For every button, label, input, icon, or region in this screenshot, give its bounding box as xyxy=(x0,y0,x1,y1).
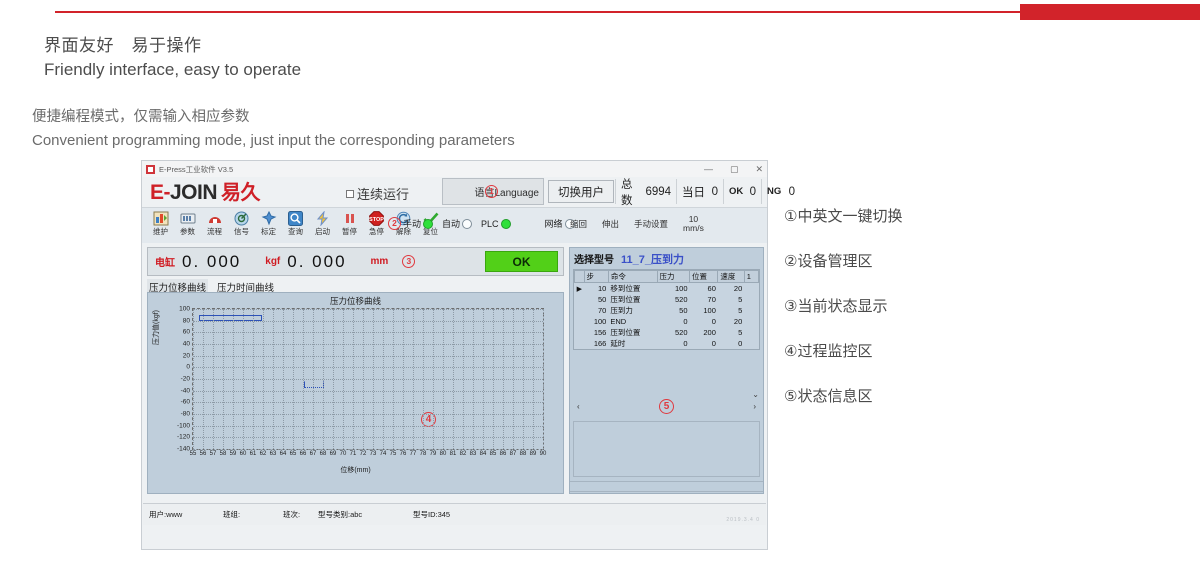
row-command-2: 压到力 xyxy=(608,305,657,316)
mode-auto-led-icon xyxy=(462,219,472,229)
row-extra-4 xyxy=(744,327,758,338)
brand-logo: E-JOIN易久 xyxy=(150,182,260,203)
callout-4-label: 过程监控区 xyxy=(797,343,872,360)
row-command-1: 压到位置 xyxy=(608,294,657,305)
row-position-5: 0 xyxy=(690,338,718,349)
watermark: 2019.3.4 0 xyxy=(726,517,760,523)
page-title-en: Friendly interface, easy to operate xyxy=(44,58,301,82)
mode-auto-label: 自动 xyxy=(442,217,460,230)
model-selector-label: 选择型号 xyxy=(574,251,614,266)
callout-2-number: ② xyxy=(784,253,797,270)
row-speed-1: 5 xyxy=(718,294,744,305)
counter-today-value: 0 xyxy=(712,186,718,198)
chart-xtick-label: 89 xyxy=(530,451,537,457)
cylinder-label: 电缸 xyxy=(155,254,175,269)
row-step-2: 70 xyxy=(584,305,608,316)
chart-xtick-label: 64 xyxy=(280,451,287,457)
row-speed-4: 5 xyxy=(718,327,744,338)
row-step-4: 156 xyxy=(584,327,608,338)
row-command-5: 延时 xyxy=(608,338,657,349)
chart-xtick-label: 69 xyxy=(330,451,337,457)
page-subtitle-cn: 便捷编程模式，仅需输入相应参数 xyxy=(32,105,515,129)
chart-xtick-label: 56 xyxy=(200,451,207,457)
chart-xtick-label: 88 xyxy=(520,451,527,457)
chart-xtick-label: 80 xyxy=(440,451,447,457)
chart-ytick-label: 60 xyxy=(183,329,190,336)
callout-2: ②设备管理区 xyxy=(784,253,1044,271)
mode-auto[interactable]: 自动 xyxy=(442,217,472,230)
row-pressure-0: 100 xyxy=(657,283,689,295)
toolbar-label-estop: 急停 xyxy=(363,227,390,237)
scroll-down-icon[interactable]: ⌄ xyxy=(752,390,759,399)
chart-ytick-label: 20 xyxy=(183,352,190,359)
status-badge[interactable]: OK xyxy=(485,251,558,272)
mode-plc[interactable]: PLC xyxy=(481,219,511,229)
switch-user-button[interactable]: 切换用户 xyxy=(548,180,614,203)
chart-y-axis-label: 压力值(kgf) xyxy=(151,310,161,345)
table-header-row: 步 命令 压力 位置 速度 1 xyxy=(575,271,759,283)
counter-ok-label: OK xyxy=(729,186,743,197)
chart-xtick-label: 82 xyxy=(460,451,467,457)
callout-1-number: ① xyxy=(784,208,797,225)
chart-ytick-label: -140 xyxy=(177,446,190,453)
status-model-type-value: abc xyxy=(350,510,362,519)
chart-gridline-h xyxy=(193,332,543,333)
col-marker xyxy=(575,271,585,283)
scroll-right-icon[interactable]: › xyxy=(753,402,756,411)
status-team: 班组: xyxy=(223,509,283,520)
toolbar-button-parameter[interactable]: 参数 xyxy=(174,208,201,237)
chart-xtick-label: 77 xyxy=(410,451,417,457)
row-step-3: 100 xyxy=(584,316,608,327)
main-toolbar: 维护 参数 流程 信号 xyxy=(142,207,767,243)
mode-plc-led-icon xyxy=(501,219,511,229)
row-marker-2 xyxy=(575,305,585,316)
chart-title: 压力位移曲线 xyxy=(148,293,563,307)
row-marker-0: ▶ xyxy=(575,283,585,295)
toolbar-button-estop[interactable]: STOP 急停 xyxy=(363,208,390,237)
window-controls: — ▢ ✕ xyxy=(704,161,763,177)
chart-ytick-label: -120 xyxy=(177,434,190,441)
chart-xtick-label: 65 xyxy=(290,451,297,457)
row-extra-2 xyxy=(744,305,758,316)
query-icon xyxy=(282,210,309,227)
svg-text:STOP: STOP xyxy=(369,217,384,223)
parameter-icon xyxy=(174,210,201,227)
chart-xtick-label: 71 xyxy=(350,451,357,457)
toolbar-label-query: 查询 xyxy=(282,227,309,237)
counter-total: 总数 6994 xyxy=(615,179,677,204)
callout-3-label: 当前状态显示 xyxy=(797,298,887,315)
maintenance-icon xyxy=(147,210,174,227)
callout-4: ④过程监控区 xyxy=(784,343,1044,361)
panel-divider-2 xyxy=(570,491,763,492)
scroll-left-icon[interactable]: ‹ xyxy=(577,402,580,411)
extend-button[interactable]: 伸出 xyxy=(602,218,619,230)
program-table: 步 命令 压力 位置 速度 1 ▶ 10 移到位置 xyxy=(574,270,759,349)
col-command: 命令 xyxy=(608,271,657,283)
position-unit: mm xyxy=(371,256,389,267)
table-row[interactable]: 70 压到力 50 100 5 xyxy=(575,305,759,316)
row-pressure-1: 520 xyxy=(657,294,689,305)
status-info-box xyxy=(573,421,760,477)
table-row[interactable]: 50 压到位置 520 70 5 xyxy=(575,294,759,305)
col-pressure: 压力 xyxy=(657,271,689,283)
col-extra: 1 xyxy=(744,271,758,283)
chart-ytick-label: -100 xyxy=(177,422,190,429)
pause-icon xyxy=(336,210,363,227)
continuous-run-checkbox[interactable]: 连续运行 xyxy=(346,184,409,203)
toolbar-label-parameter: 参数 xyxy=(174,227,201,237)
callout-1: ①中英文一键切换 xyxy=(784,208,1044,226)
counter-total-value: 6994 xyxy=(646,186,672,198)
checkbox-icon[interactable] xyxy=(346,190,354,198)
chart-ytick-label: -40 xyxy=(181,387,190,394)
chart-xtick-label: 84 xyxy=(480,451,487,457)
status-readout-bar: 电缸 0. 000 kgf 0. 000 mm 3 OK xyxy=(147,247,564,276)
bottom-status-bar: 用户:www 班组: 班次: 型号类别:abc 型号ID:345 2019.3.… xyxy=(143,503,766,525)
row-extra-5 xyxy=(744,338,758,349)
chart-xtick-label: 73 xyxy=(370,451,377,457)
row-marker-4 xyxy=(575,327,585,338)
callout-3-number: ③ xyxy=(784,298,797,315)
model-name: 11_7_压到力 xyxy=(621,251,684,267)
row-step-1: 50 xyxy=(584,294,608,305)
status-user-key: 用户: xyxy=(149,510,166,519)
speed-display: 10 mm/s xyxy=(683,215,704,233)
status-model-type: 型号类别:abc xyxy=(318,509,413,520)
chart-xtick-label: 87 xyxy=(510,451,517,457)
estop-icon: STOP xyxy=(363,210,390,227)
callout-1-label: 中英文一键切换 xyxy=(797,208,902,225)
col-speed: 速度 xyxy=(718,271,744,283)
status-user: 用户:www xyxy=(149,509,223,520)
counter-ng-value: 0 xyxy=(789,186,795,198)
mode-plc-label: PLC xyxy=(481,219,499,229)
chart-ytick-label: 80 xyxy=(183,317,190,324)
chart-gridline-h xyxy=(193,379,543,380)
chart-ytick-label: 40 xyxy=(183,341,190,348)
row-extra-3 xyxy=(744,316,758,327)
horizontal-scrollbar[interactable]: ‹ 5 › xyxy=(573,400,760,413)
brand-cn: 易久 xyxy=(221,182,260,204)
row-pressure-2: 50 xyxy=(657,305,689,316)
counter-today-label: 当日 xyxy=(682,184,705,200)
status-model-type-key: 型号类别: xyxy=(318,510,350,519)
toolbar-tail-group: 缩回 伸出 手动设置 10 mm/s xyxy=(570,215,704,233)
chart-series-window xyxy=(304,381,324,389)
chart-xtick-label: 55 xyxy=(190,451,197,457)
chart-xtick-label: 86 xyxy=(500,451,507,457)
process-monitor-chart: 压力位移曲线 压力值(kgf) 4 5556575859606162636465… xyxy=(147,292,564,494)
status-shift-key: 班次: xyxy=(283,510,300,519)
chart-gridline-h xyxy=(193,321,543,322)
chart-gridline-h xyxy=(193,437,543,438)
chart-xtick-label: 76 xyxy=(400,451,407,457)
chart-xtick-label: 90 xyxy=(540,451,547,457)
row-step-0: 10 xyxy=(584,283,608,295)
status-badge-label: OK xyxy=(513,255,531,269)
row-position-3: 0 xyxy=(690,316,718,327)
row-command-3: END xyxy=(608,316,657,327)
toolbar-button-maintenance[interactable]: 维护 xyxy=(147,208,174,237)
callout-5-label: 状态信息区 xyxy=(797,388,872,405)
mode-manual-label: 手动 xyxy=(403,217,421,230)
chart-xtick-label: 78 xyxy=(420,451,427,457)
close-icon[interactable]: ✕ xyxy=(755,165,763,174)
chart-ytick-label: 100 xyxy=(179,306,190,313)
page-subtitle-en: Convenient programming mode, just input … xyxy=(32,129,515,153)
chart-xtick-label: 61 xyxy=(250,451,257,457)
toolbar-label-pause: 暂停 xyxy=(336,227,363,237)
process-icon xyxy=(201,210,228,227)
status-model-id-key: 型号ID: xyxy=(413,510,438,519)
counter-group: 总数 6994 当日 0 OK 0 NG 0 xyxy=(615,179,800,204)
chart-xtick-label: 79 xyxy=(430,451,437,457)
minimize-icon[interactable]: — xyxy=(704,165,713,174)
panel-divider-1 xyxy=(570,481,763,482)
row-marker-3 xyxy=(575,316,585,327)
chart-xtick-label: 66 xyxy=(300,451,307,457)
toolbar-button-pause[interactable]: 暂停 xyxy=(336,208,363,237)
counter-ok: OK 0 xyxy=(724,179,762,204)
chart-x-axis-label: 位移(mm) xyxy=(340,465,370,475)
chart-xtick-label: 70 xyxy=(340,451,347,457)
chart-xtick-label: 83 xyxy=(470,451,477,457)
chart-gridline-h xyxy=(193,414,543,415)
callout-5: ⑤状态信息区 xyxy=(784,388,1044,406)
row-position-1: 70 xyxy=(690,294,718,305)
chart-xtick-label: 67 xyxy=(310,451,317,457)
counter-ng-label: NG xyxy=(767,186,781,197)
counter-total-label: 总数 xyxy=(621,176,633,208)
row-speed-0: 20 xyxy=(718,283,744,295)
table-row[interactable]: 156 压到位置 520 200 5 xyxy=(575,327,759,338)
manual-setting-button[interactable]: 手动设置 xyxy=(634,218,668,230)
chart-xtick-label: 59 xyxy=(230,451,237,457)
start-icon xyxy=(309,210,336,227)
chart-xtick-label: 81 xyxy=(450,451,457,457)
table-row[interactable]: 166 延时 0 0 0 xyxy=(575,338,759,349)
callout-4-number: ④ xyxy=(784,343,797,360)
force-value: 0. 000 xyxy=(182,252,241,272)
calibration-icon xyxy=(255,210,282,227)
chart-gridline-h xyxy=(193,449,543,450)
status-user-value: www xyxy=(166,510,182,519)
marker-1: 1 xyxy=(485,185,498,198)
chart-xtick-label: 74 xyxy=(380,451,387,457)
chart-xtick-label: 72 xyxy=(360,451,367,457)
program-panel: 选择型号 11_7_压到力 步 命令 压力 位置 速度 1 xyxy=(569,247,764,494)
language-button[interactable]: 1 语言Language xyxy=(442,178,544,205)
brand-row: E-JOIN易久 连续运行 1 语言Language 切换用户 总数 6994 … xyxy=(142,177,767,207)
signal-icon xyxy=(228,210,255,227)
toolbar-button-signal[interactable]: 信号 xyxy=(228,208,255,237)
position-value: 0. 000 xyxy=(287,252,346,272)
chart-gridline-h xyxy=(193,402,543,403)
brand-join: JOIN xyxy=(170,181,217,204)
row-extra-1 xyxy=(744,294,758,305)
app-logo-icon xyxy=(146,165,155,174)
table-row[interactable]: ▶ 10 移到位置 100 60 20 xyxy=(575,283,759,295)
chart-plot-area: 4 55565758596061626364656667686970717273… xyxy=(192,308,544,450)
status-team-key: 班组: xyxy=(223,510,240,519)
callout-3: ③当前状态显示 xyxy=(784,298,1044,316)
maximize-icon[interactable]: ▢ xyxy=(730,165,739,174)
chart-xtick-label: 68 xyxy=(320,451,327,457)
row-speed-5: 0 xyxy=(718,338,744,349)
col-step: 步 xyxy=(584,271,608,283)
row-position-4: 200 xyxy=(690,327,718,338)
switch-user-label: 切换用户 xyxy=(558,184,604,200)
toolbar-button-process[interactable]: 流程 xyxy=(201,208,228,237)
toolbar-label-maintenance: 维护 xyxy=(147,227,174,237)
chart-xtick-label: 75 xyxy=(390,451,397,457)
application-window: E-Press工业软件 V3.5 — ▢ ✕ E-JOIN易久 连续运行 1 语… xyxy=(141,160,768,550)
row-command-0: 移到位置 xyxy=(608,283,657,295)
chart-xtick-label: 58 xyxy=(220,451,227,457)
status-model-id-value: 345 xyxy=(438,510,451,519)
mode-indicator-group: 2 手动 自动 PLC 网络 xyxy=(388,217,584,230)
chart-gridline-h xyxy=(193,344,543,345)
counter-ok-value: 0 xyxy=(750,186,756,198)
chart-xtick-label: 85 xyxy=(490,451,497,457)
col-position: 位置 xyxy=(690,271,718,283)
model-selector[interactable]: 选择型号 11_7_压到力 xyxy=(570,248,763,269)
chart-xtick-label: 57 xyxy=(210,451,217,457)
counter-today: 当日 0 xyxy=(677,179,724,204)
row-marker-1 xyxy=(575,294,585,305)
marker-5: 5 xyxy=(659,399,674,414)
toolbar-button-calibration[interactable]: 标定 xyxy=(255,208,282,237)
row-pressure-4: 520 xyxy=(657,327,689,338)
speed-unit: mm/s xyxy=(683,223,704,233)
continuous-run-label: 连续运行 xyxy=(357,187,409,202)
marker-3: 3 xyxy=(402,255,415,268)
page-title: 界面友好 易于操作 Friendly interface, easy to op… xyxy=(44,34,301,82)
callout-5-number: ⑤ xyxy=(784,388,797,405)
chart-gridline-h xyxy=(193,309,543,310)
chart-ytick-label: -60 xyxy=(181,399,190,406)
toolbar-button-query[interactable]: 查询 xyxy=(282,208,309,237)
window-title: E-Press工业软件 V3.5 xyxy=(159,164,233,175)
brand-e: E- xyxy=(150,181,170,204)
callout-2-label: 设备管理区 xyxy=(797,253,872,270)
mode-manual-led-icon xyxy=(423,219,433,229)
chart-xtick-label: 63 xyxy=(270,451,277,457)
chart-ytick-label: 0 xyxy=(186,364,190,371)
row-pressure-3: 0 xyxy=(657,316,689,327)
status-shift: 班次: xyxy=(283,509,318,520)
toolbar-label-calibration: 标定 xyxy=(255,227,282,237)
status-model-id: 型号ID:345 xyxy=(413,509,450,520)
force-unit: kgf xyxy=(265,256,280,267)
page-subtitle: 便捷编程模式，仅需输入相应参数 Convenient programming m… xyxy=(32,105,515,153)
chart-gridline-h xyxy=(193,367,543,368)
row-marker-5 xyxy=(575,338,585,349)
program-step-table[interactable]: 步 命令 压力 位置 速度 1 ▶ 10 移到位置 xyxy=(573,269,760,350)
chart-ytick-label: -20 xyxy=(181,376,190,383)
row-speed-3: 20 xyxy=(718,316,744,327)
row-extra-0 xyxy=(744,283,758,295)
row-step-5: 166 xyxy=(584,338,608,349)
chart-ytick-label: -80 xyxy=(181,411,190,418)
row-speed-2: 5 xyxy=(718,305,744,316)
chart-xtick-label: 62 xyxy=(260,451,267,457)
retract-button[interactable]: 缩回 xyxy=(570,218,587,230)
window-titlebar: E-Press工业软件 V3.5 — ▢ ✕ xyxy=(142,161,767,177)
slide-page: 界面友好 易于操作 Friendly interface, easy to op… xyxy=(0,0,1200,580)
chart-gridline-h xyxy=(193,426,543,427)
mode-network-label: 网络 xyxy=(545,217,563,230)
toolbar-button-start[interactable]: 启动 xyxy=(309,208,336,237)
toolbar-label-process: 流程 xyxy=(201,227,228,237)
chart-gridline-h xyxy=(193,356,543,357)
toolbar-label-start: 启动 xyxy=(309,227,336,237)
page-title-cn: 界面友好 易于操作 xyxy=(44,34,301,58)
toolbar-label-signal: 信号 xyxy=(228,227,255,237)
chart-xtick-label: 60 xyxy=(240,451,247,457)
marker-2: 2 xyxy=(388,217,401,230)
table-row[interactable]: 100 END 0 0 20 xyxy=(575,316,759,327)
row-command-4: 压到位置 xyxy=(608,327,657,338)
row-position-2: 100 xyxy=(690,305,718,316)
top-accent-block xyxy=(1020,4,1200,20)
counter-ng: NG 0 xyxy=(762,179,800,204)
callout-list: ①中英文一键切换 ②设备管理区 ③当前状态显示 ④过程监控区 ⑤状态信息区 xyxy=(784,208,1044,433)
row-pressure-5: 0 xyxy=(657,338,689,349)
chart-gridline-v xyxy=(543,309,544,449)
row-position-0: 60 xyxy=(690,283,718,295)
mode-manual[interactable]: 手动 xyxy=(403,217,433,230)
chart-gridline-h xyxy=(193,391,543,392)
